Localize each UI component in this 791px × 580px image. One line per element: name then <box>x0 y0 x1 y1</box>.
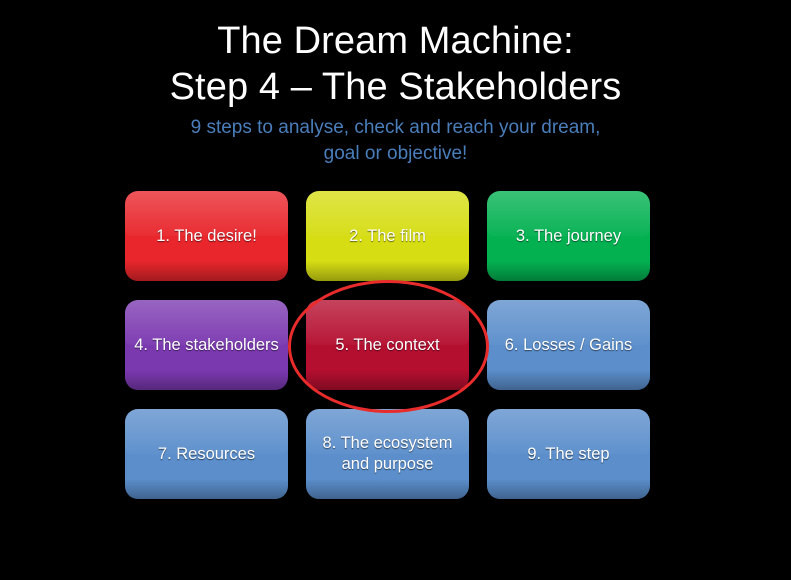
step-box-9-label: 9. The step <box>527 444 609 465</box>
step-box-7[interactable]: 7. Resources <box>125 409 288 499</box>
step-box-7-label: 7. Resources <box>158 444 255 465</box>
title-line-2: Step 4 – The Stakeholders <box>0 64 791 110</box>
step-box-8[interactable]: 8. The ecosystem and purpose <box>306 409 469 499</box>
step-box-8-label: 8. The ecosystem and purpose <box>314 433 461 475</box>
step-box-9[interactable]: 9. The step <box>487 409 650 499</box>
step-box-3[interactable]: 3. The journey <box>487 191 650 281</box>
step-box-4[interactable]: 4. The stakeholders <box>125 300 288 390</box>
subtitle-line-2: goal or objective! <box>0 141 791 167</box>
step-box-1[interactable]: 1. The desire! <box>125 191 288 281</box>
slide-canvas: The Dream Machine: Step 4 – The Stakehol… <box>0 0 791 580</box>
steps-grid: 1. The desire! 2. The film 3. The journe… <box>125 191 655 499</box>
page-title: The Dream Machine: Step 4 – The Stakehol… <box>0 18 791 110</box>
step-box-2-label: 2. The film <box>349 226 426 247</box>
step-box-6-label: 6. Losses / Gains <box>505 335 632 356</box>
title-line-1: The Dream Machine: <box>0 18 791 64</box>
step-box-4-label: 4. The stakeholders <box>134 335 279 356</box>
step-box-5-label: 5. The context <box>335 335 439 356</box>
subtitle-line-1: 9 steps to analyse, check and reach your… <box>0 115 791 141</box>
page-subtitle: 9 steps to analyse, check and reach your… <box>0 115 791 167</box>
step-box-6[interactable]: 6. Losses / Gains <box>487 300 650 390</box>
step-box-5[interactable]: 5. The context <box>306 300 469 390</box>
step-box-3-label: 3. The journey <box>516 226 621 247</box>
step-box-1-label: 1. The desire! <box>156 226 257 247</box>
step-box-2[interactable]: 2. The film <box>306 191 469 281</box>
